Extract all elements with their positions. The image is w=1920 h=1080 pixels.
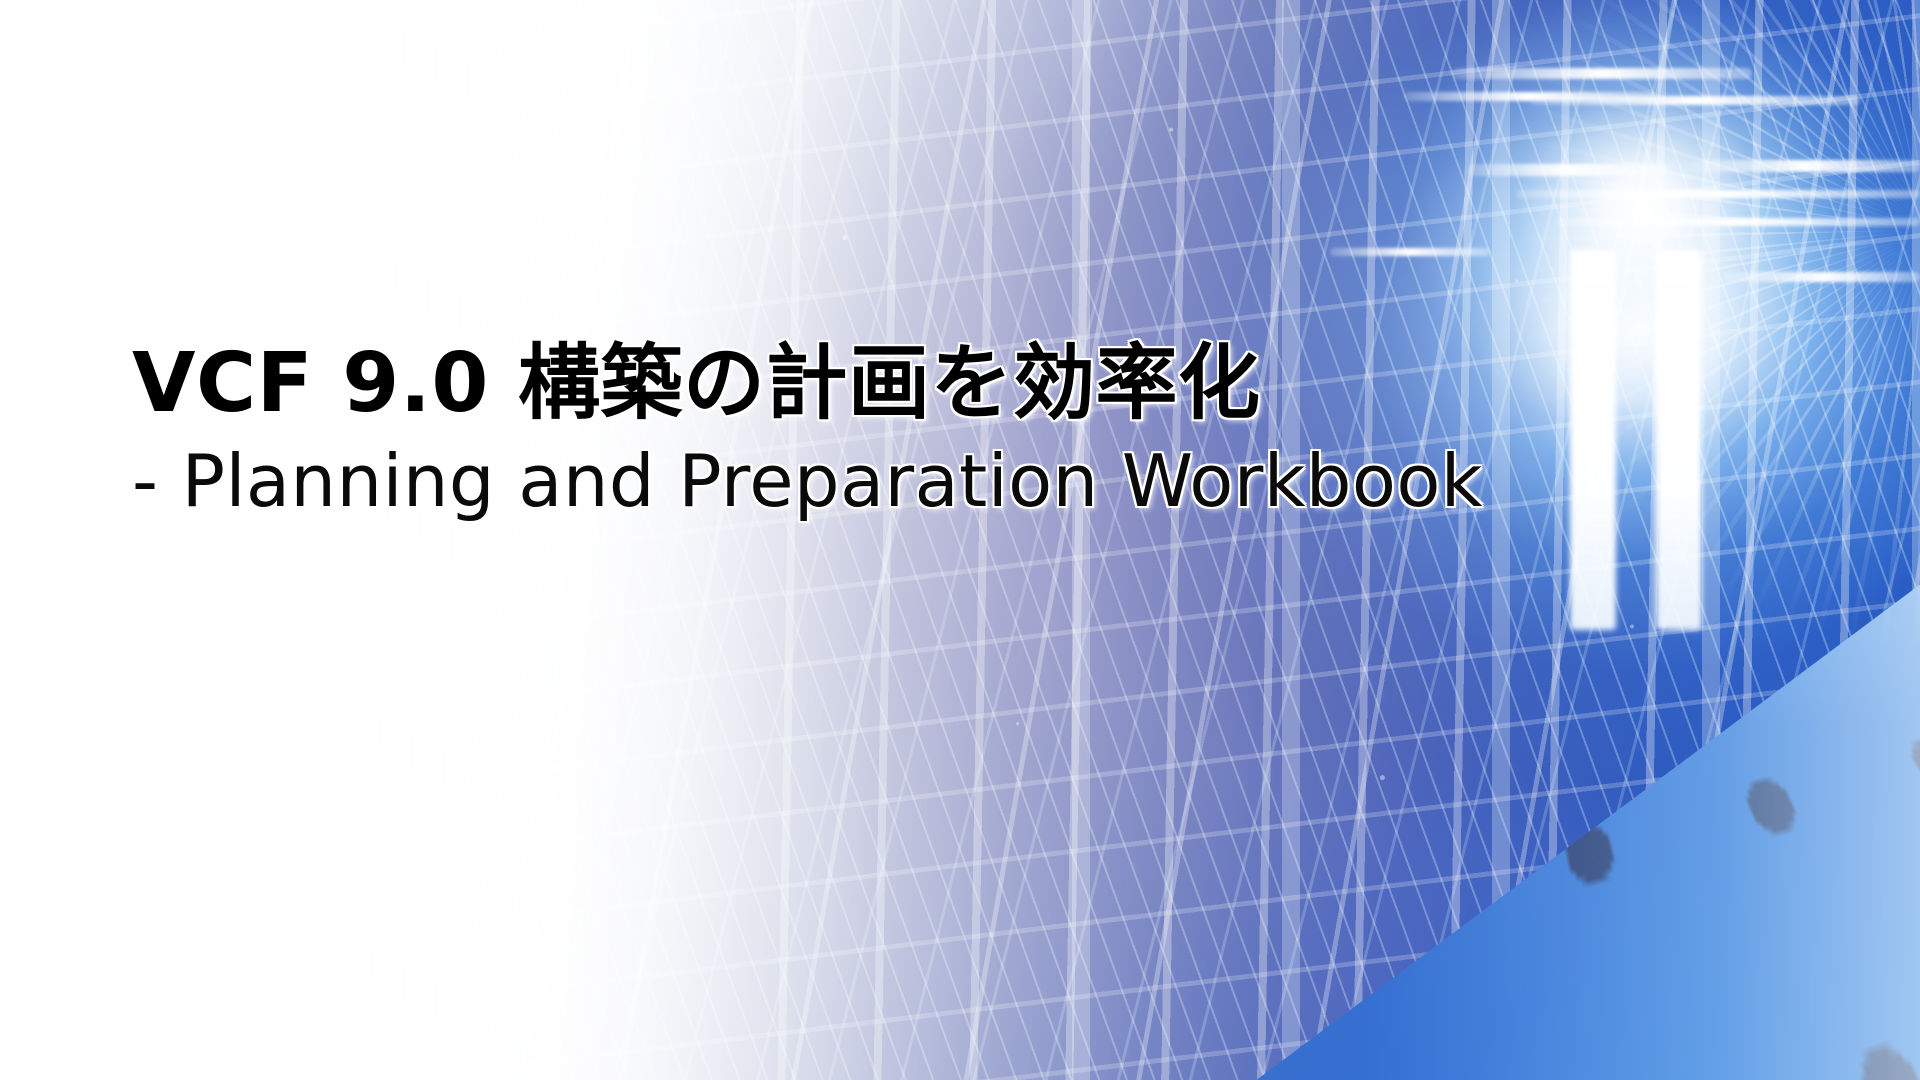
slide-title: VCF 9.0 構築の計画を効率化 <box>132 340 1732 429</box>
left-white-fade-overlay <box>0 0 1920 1080</box>
presentation-slide: VCF 9.0 構築の計画を効率化 - Planning and Prepara… <box>0 0 1920 1080</box>
slide-subtitle: - Planning and Preparation Workbook <box>132 443 1732 519</box>
title-text-block: VCF 9.0 構築の計画を効率化 - Planning and Prepara… <box>132 340 1732 519</box>
